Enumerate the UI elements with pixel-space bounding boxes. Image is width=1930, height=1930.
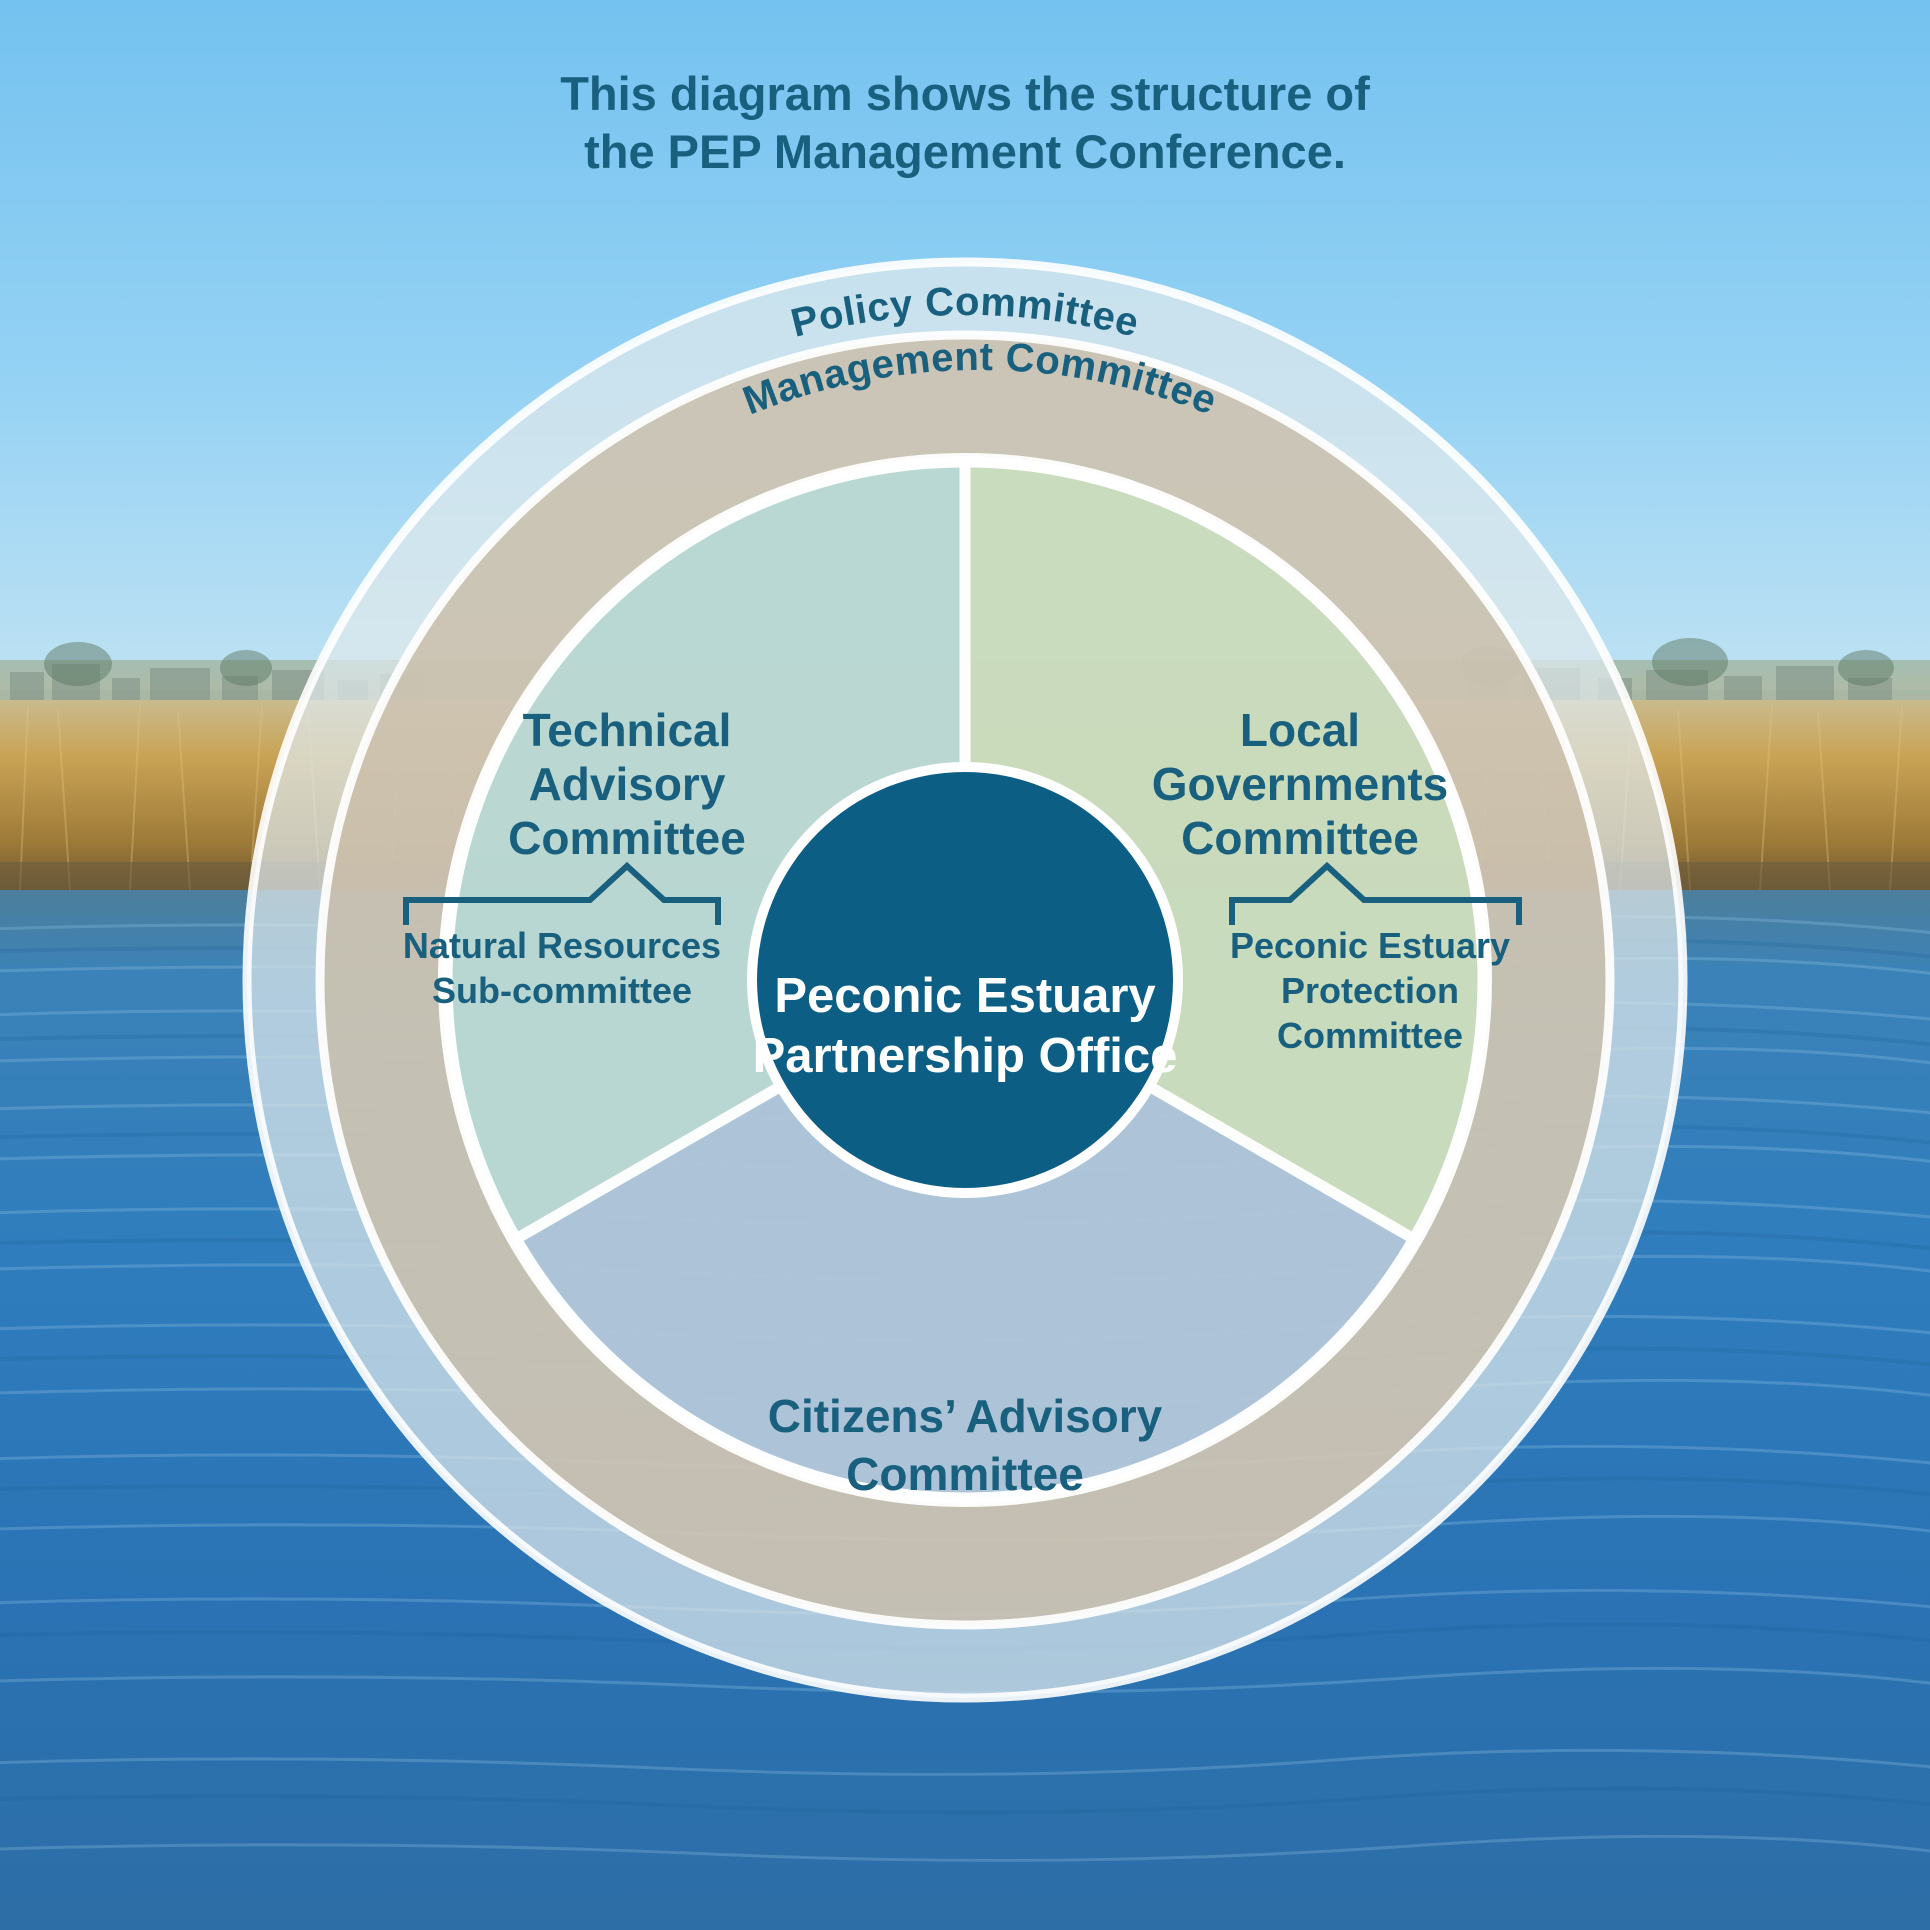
svg-text:Partnership Office: Partnership Office <box>753 1029 1178 1083</box>
page-heading: This diagram shows the structure of the … <box>560 67 1370 178</box>
svg-text:Committee: Committee <box>508 812 746 864</box>
svg-text:Technical: Technical <box>523 704 732 756</box>
svg-text:Sub-committee: Sub-committee <box>432 970 692 1011</box>
svg-text:Committee: Committee <box>846 1448 1084 1500</box>
svg-text:the PEP Management Conference.: the PEP Management Conference. <box>584 125 1346 178</box>
svg-text:This diagram shows the structu: This diagram shows the structure of <box>560 67 1370 120</box>
svg-text:Advisory: Advisory <box>529 758 726 810</box>
svg-text:Governments: Governments <box>1152 758 1449 810</box>
svg-text:Peconic Estuary: Peconic Estuary <box>774 969 1155 1023</box>
svg-text:Committee: Committee <box>1277 1015 1463 1056</box>
svg-text:Protection: Protection <box>1281 970 1459 1011</box>
svg-text:Local: Local <box>1240 704 1360 756</box>
pep-management-conference-diagram: Policy Committee Management Committee Te… <box>0 0 1930 1930</box>
svg-text:Citizens’ Advisory: Citizens’ Advisory <box>768 1390 1163 1442</box>
label-technical-advisory-committee: Technical Advisory Committee <box>508 704 746 864</box>
svg-text:Committee: Committee <box>1181 812 1419 864</box>
diagram-overlay: Policy Committee Management Committee Te… <box>0 0 1930 1930</box>
svg-text:Peconic Estuary: Peconic Estuary <box>1230 925 1510 966</box>
svg-text:Natural Resources: Natural Resources <box>403 925 721 966</box>
